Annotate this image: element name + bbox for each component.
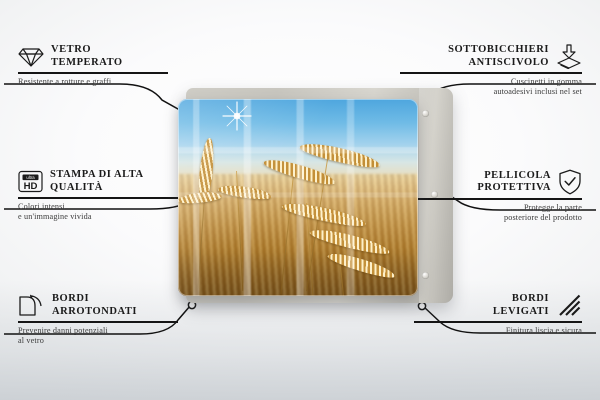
callout-subtitle: Prevenire danni potenziali — [18, 326, 193, 336]
diagonal-hatch-icon — [556, 294, 582, 317]
callout-subtitle: autoadesivi inclusi nel set — [392, 87, 582, 97]
callout-header: BORDI LEVIGATI — [407, 293, 582, 318]
rubber-foot — [431, 191, 438, 198]
callout-title: STAMPA DI ALTA QUALITÀ — [50, 169, 144, 194]
callout-divider — [18, 321, 178, 323]
callout-title: VETRO TEMPERATO — [51, 44, 123, 69]
callout-bordi-levigati: BORDI LEVIGATI Finitura liscia e sicura — [407, 293, 582, 336]
callout-title: BORDI LEVIGATI — [493, 293, 549, 318]
callout-divider — [18, 197, 178, 199]
callout-divider — [414, 321, 582, 323]
diamond-icon — [18, 46, 44, 68]
product-image — [178, 88, 453, 303]
infographic-canvas: VETRO TEMPERATO Resistente a rotture e g… — [0, 0, 600, 400]
callout-subtitle: posteriore del prodotto — [407, 213, 582, 223]
callout-subtitle: al vetro — [18, 336, 193, 346]
callout-subtitle: Cuscinetti in gomma — [392, 77, 582, 87]
shield-check-icon — [558, 169, 582, 195]
callout-subtitle: Protegge la parte — [407, 203, 582, 213]
callout-subtitle: e un'immagine vivida — [18, 212, 193, 222]
callout-sottobicchieri-antiscivolo: SOTTOBICCHIERI ANTISCIVOLO Cuscinetti in… — [392, 44, 582, 98]
callout-header: ultra HD STAMPA DI ALTA QUALITÀ — [18, 169, 193, 194]
rubber-foot — [422, 110, 429, 117]
callout-bordi-arrotondati: BORDI ARROTONDATI Prevenire danni potenz… — [18, 293, 193, 347]
glass-board — [178, 99, 418, 296]
press-pad-icon — [556, 44, 582, 69]
callout-subtitle: Finitura liscia e sicura — [407, 326, 582, 336]
svg-text:ultra: ultra — [26, 175, 35, 180]
callout-title: PELLICOLA PROTETTIVA — [477, 170, 551, 195]
callout-title: SOTTOBICCHIERI ANTISCIVOLO — [448, 44, 549, 69]
ultra-hd-badge-icon: ultra HD — [18, 170, 43, 193]
callout-divider — [400, 72, 582, 74]
callout-stampa-di-alta-qualita: ultra HD STAMPA DI ALTA QUALITÀ Colori i… — [18, 169, 193, 223]
callout-header: BORDI ARROTONDATI — [18, 293, 193, 318]
svg-text:HD: HD — [24, 181, 38, 192]
rounded-corner-icon — [18, 294, 45, 317]
callout-divider — [414, 198, 582, 200]
callout-subtitle: Colori intensi — [18, 202, 193, 212]
callout-header: SOTTOBICCHIERI ANTISCIVOLO — [392, 44, 582, 69]
callout-divider — [18, 72, 168, 74]
leader-line-vetro-temperato — [4, 84, 203, 123]
callout-header: VETRO TEMPERATO — [18, 44, 188, 69]
rubber-foot — [422, 272, 429, 279]
callout-title: BORDI ARROTONDATI — [52, 293, 137, 318]
callout-vetro-temperato: VETRO TEMPERATO Resistente a rotture e g… — [18, 44, 188, 87]
callout-subtitle: Resistente a rotture e graffi — [18, 77, 188, 87]
